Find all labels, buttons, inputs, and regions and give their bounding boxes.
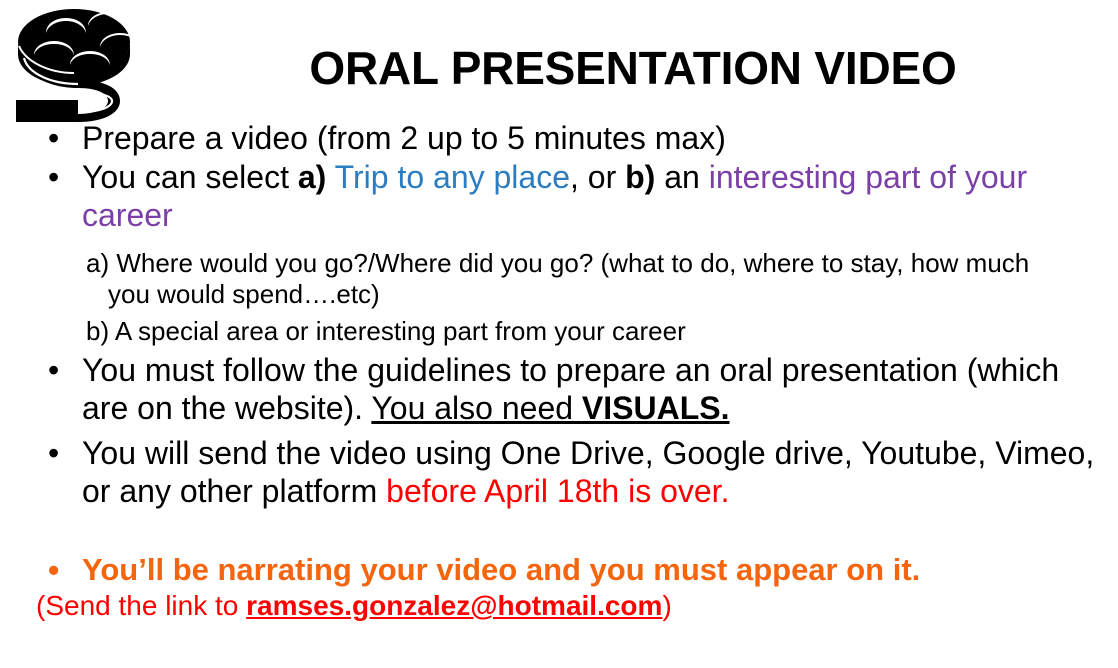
bullet-text: You’ll be narrating your video and you m… — [82, 552, 920, 587]
slide-canvas: ORAL PRESENTATION VIDEO •Prepare a video… — [0, 0, 1118, 668]
bullet-text-article: an — [655, 159, 708, 195]
spacer — [0, 236, 1118, 248]
bullet-item-select-topic: •You can select a) Trip to any place, or… — [0, 159, 1118, 234]
bullet-item-prepare-video: •Prepare a video (from 2 up to 5 minutes… — [0, 120, 1118, 157]
option-a-text: Trip to any place — [326, 159, 570, 195]
bullet-marker: • — [48, 552, 66, 589]
bullet-text-lead: You can select — [82, 159, 298, 195]
bullet-marker: • — [48, 352, 66, 389]
bullet-text: Prepare a video (from 2 up to 5 minutes … — [82, 120, 726, 156]
spacer — [0, 512, 1118, 552]
sub-item-b-label: b) — [86, 316, 109, 346]
bullet-marker: • — [48, 159, 66, 196]
bullet-item-narration: •You’ll be narrating your video and you … — [0, 552, 1118, 588]
email-suffix: ) — [662, 590, 671, 621]
bullet-marker: • — [48, 120, 66, 157]
bullet-item-guidelines: •You must follow the guidelines to prepa… — [0, 352, 1118, 427]
sub-item-a-text: Where would you go?/Where did you go? (w… — [108, 248, 1029, 309]
option-b-label: b) — [625, 159, 655, 195]
bullet-marker: • — [48, 435, 66, 472]
email-prefix: (Send the link to — [36, 590, 246, 621]
bullet-item-submission: •You will send the video using One Drive… — [0, 435, 1118, 510]
slide-body: •Prepare a video (from 2 up to 5 minutes… — [0, 120, 1118, 623]
option-a-label: a) — [298, 159, 326, 195]
visuals-note: You also need — [371, 390, 582, 426]
contact-email[interactable]: ramses.gonzalez@hotmail.com — [246, 590, 662, 621]
sub-item-a: a) Where would you go?/Where did you go?… — [0, 248, 1118, 309]
sub-item-b: b) A special area or interesting part fr… — [0, 316, 1118, 347]
sub-item-b-text: A special area or interesting part from … — [109, 316, 686, 346]
deadline-text: before April 18th is over. — [386, 473, 729, 509]
visuals-emphasis: VISUALS. — [582, 390, 730, 426]
bullet-text-sep: , or — [570, 159, 625, 195]
submission-email-line: (Send the link to ramses.gonzalez@hotmai… — [0, 590, 1118, 622]
film-reel-icon — [4, 2, 154, 124]
sub-item-a-label: a) — [86, 248, 109, 278]
page-title: ORAL PRESENTATION VIDEO — [158, 44, 1108, 92]
